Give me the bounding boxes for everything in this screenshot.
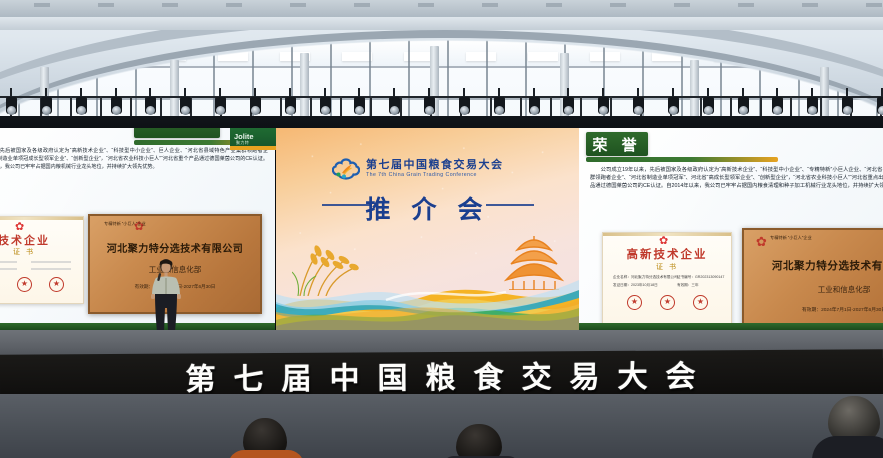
stage-light-fixture: [215, 97, 226, 114]
vendor-logo-block: Jolite 聚力特: [230, 128, 278, 150]
ceiling-panel-tick: [354, 3, 370, 7]
plaque-emblem-icon: ✿: [756, 234, 767, 250]
cert-company-field: 企业名称：河北聚力特分选技术有限公司: [613, 275, 678, 280]
stage-light-fixture: [285, 97, 296, 114]
stage-light-fixture: [494, 97, 505, 114]
left-panel-header: [134, 128, 220, 138]
truss-brace: [130, 96, 132, 118]
light-mount-arm: [289, 88, 291, 97]
truss-brace: [160, 96, 162, 118]
light-mount-arm: [846, 88, 848, 97]
stage-light-fixture: [772, 97, 783, 114]
stage-light-fixture: [250, 97, 261, 114]
ceiling-panel-tick: [546, 3, 562, 7]
truss-brace: [580, 96, 582, 118]
stage-light-fixture: [320, 97, 331, 114]
stage-light-fixture: [877, 97, 883, 114]
truss-brace: [280, 96, 282, 118]
stage-light-fixture: [807, 97, 818, 114]
cert-validity-field: 有效期：三年: [677, 283, 699, 288]
light-mount-arm: [637, 88, 639, 97]
light-mount-arm: [463, 88, 465, 97]
led-headline: 推 介 会: [276, 190, 579, 226]
ceiling-panel-tick: [866, 3, 882, 7]
stage-light-fixture: [6, 97, 17, 114]
ceiling-panel-tick: [418, 3, 434, 7]
truss-brace: [370, 96, 372, 118]
stage-light-fixture: [598, 97, 609, 114]
light-mount-arm: [776, 88, 778, 97]
ceiling-panel-tick: [162, 3, 178, 7]
stage-light-fixture: [76, 97, 87, 114]
left-presentation-panel: 年以来，先后被国家及各级政府认定为“高新技术企业”、“科技型中小企业”、巨人企业…: [0, 128, 275, 330]
stage-light-fixture: [354, 97, 365, 114]
ceiling-panel-tick: [98, 3, 114, 7]
light-mount-arm: [707, 88, 709, 97]
stage-light-fixture: [41, 97, 52, 114]
truss-brace: [340, 96, 342, 118]
light-mount-arm: [358, 88, 360, 97]
stage-light-fixture: [668, 97, 679, 114]
light-mount-arm: [80, 88, 82, 97]
led-screen: 第七届中国粮食交易大会 The 7th China Grain Trading …: [276, 128, 579, 330]
light-mount-arm: [149, 88, 151, 97]
ceiling-panel-tick: [610, 3, 626, 7]
presenter-with-microphone: [146, 258, 186, 332]
truss-brace: [730, 96, 732, 118]
truss-brace: [760, 96, 762, 118]
truss-brace: [400, 96, 402, 118]
stage-light-fixture: [529, 97, 540, 114]
truss-brace: [490, 96, 492, 118]
ceiling-panel-tick: [290, 3, 306, 7]
ceiling-panel-tick: [738, 3, 754, 7]
right-panel-header: 荣 誉: [586, 132, 648, 156]
stage-light-fixture: [424, 97, 435, 114]
ceiling-panel-tick: [674, 3, 690, 7]
light-mount-arm: [672, 88, 674, 97]
right-plaque: ✿ 专精特新 “小巨人”企业 河北聚力特分选技术有限公司 工业和信息化部 有效期…: [742, 228, 883, 330]
light-mount-arm: [115, 88, 117, 97]
light-mount-arm: [742, 88, 744, 97]
stage-light-fixture: [842, 97, 853, 114]
cert-number-field: 证书编号：GR202313090147: [677, 275, 724, 280]
cert-date-field: 发证日期：2023年10月18日: [613, 283, 658, 288]
light-mount-arm: [602, 88, 604, 97]
colored-ribbon-waves-graphic: [276, 256, 579, 330]
audience-shoulder: [812, 436, 883, 458]
right-panel-body-text: 公司成立19年以来，先后被国家及各级政府认定为“高新技术企业”、“科技型中小企业…: [590, 166, 883, 191]
stage-light-fixture: [563, 97, 574, 114]
light-mount-arm: [10, 88, 12, 97]
truss-brace: [310, 96, 312, 118]
ceiling-slab-lower: [0, 17, 883, 30]
audience-shoulder: [228, 450, 304, 458]
truss-brace: [100, 96, 102, 118]
truss-brace: [550, 96, 552, 118]
truss-brace: [790, 96, 792, 118]
light-mount-arm: [393, 88, 395, 97]
light-mount-arm: [533, 88, 535, 97]
light-mount-arm: [45, 88, 47, 97]
light-mount-arm: [254, 88, 256, 97]
audience-head: [456, 424, 502, 458]
light-mount-arm: [428, 88, 430, 97]
ceiling-panel-tick: [226, 3, 242, 7]
stage-light-fixture: [180, 97, 191, 114]
stage-light-fixture: [703, 97, 714, 114]
truss-brace: [520, 96, 522, 118]
stage-light-fixture: [389, 97, 400, 114]
conference-logo: 第七届中国粮食交易大会 The 7th China Grain Trading …: [332, 158, 504, 180]
truss-brace: [70, 96, 72, 118]
stage-light-fixture: [738, 97, 749, 114]
stage-light-fixture: [111, 97, 122, 114]
right-certificate: ✿ 高新技术企业 证 书 企业名称：河北聚力特分选技术有限公司 证书编号：GR2…: [602, 232, 732, 326]
light-mount-arm: [567, 88, 569, 97]
truss-brace: [700, 96, 702, 118]
right-presentation-panel: 荣 誉 公司成立19年以来，先后被国家及各级政府认定为“高新技术企业”、“科技型…: [578, 128, 883, 330]
audience-foreground: [0, 394, 883, 458]
light-mount-arm: [184, 88, 186, 97]
light-mount-arm: [498, 88, 500, 97]
light-mount-arm: [324, 88, 326, 97]
conference-stage-photo: 年以来，先后被国家及各级政府认定为“高新技术企业”、“科技型中小企业”、巨人企业…: [0, 0, 883, 458]
grain-cloud-logo-icon: [332, 158, 360, 180]
left-certificate: ✿ 技术企业 证 书 ★ ★ ★: [0, 216, 84, 304]
stage-light-fixture: [145, 97, 156, 114]
light-mount-arm: [811, 88, 813, 97]
ceiling-panel-tick: [482, 3, 498, 7]
ceiling-panel-tick: [34, 3, 50, 7]
stage-front-banner-text: 第七 届中 国粮 食交 易大 会: [0, 351, 883, 398]
ceiling-panel-tick: [802, 3, 818, 7]
stage-light-fixture: [633, 97, 644, 114]
truss-brace: [820, 96, 822, 118]
left-panel-body-text: 年以来，先后被国家及各级政府认定为“高新技术企业”、“科技型中小企业”、巨人企业…: [0, 148, 268, 172]
truss-brace: [610, 96, 612, 118]
stage-light-fixture: [459, 97, 470, 114]
light-mount-arm: [219, 88, 221, 97]
